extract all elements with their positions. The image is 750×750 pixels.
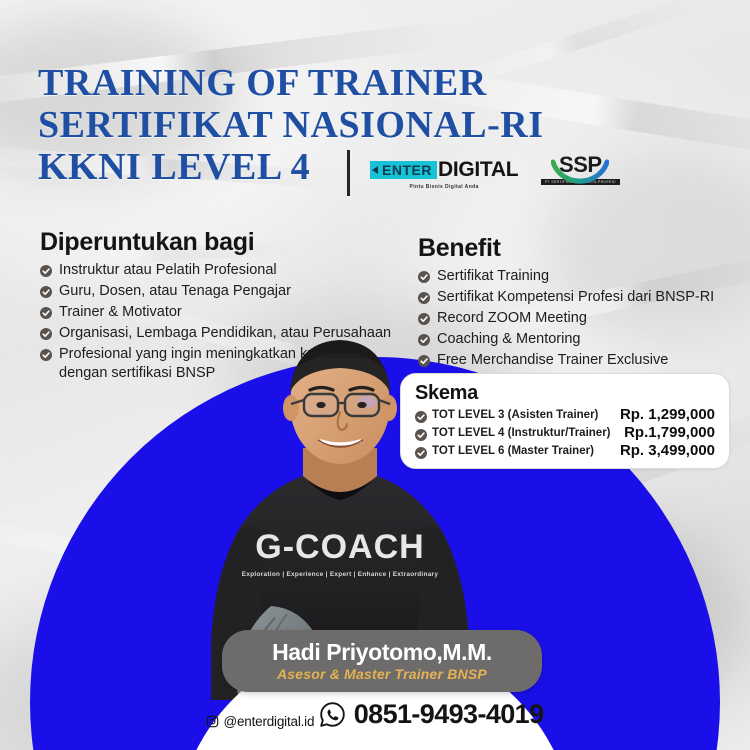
skema-title: Skema — [415, 382, 715, 405]
audience-item-text: Instruktur atau Pelatih Profesional — [59, 261, 277, 280]
list-item: Record ZOOM Meeting — [418, 309, 738, 328]
skema-pricing-box: Skema TOT LEVEL 3 (Asisten Trainer) Rp. … — [400, 373, 730, 469]
list-item: Guru, Dosen, atau Tenaga Pengajar — [40, 282, 400, 301]
list-item: Trainer & Motivator — [40, 303, 400, 322]
list-item: Profesional yang ingin meningkatkan kred… — [40, 345, 400, 383]
skema-level-label: TOT LEVEL 6 (Master Trainer) — [432, 445, 594, 457]
table-row: TOT LEVEL 6 (Master Trainer) Rp. 3,499,0… — [415, 442, 715, 459]
check-circle-icon — [415, 411, 427, 423]
check-circle-icon — [418, 334, 430, 346]
audience-title: Diperuntukan bagi — [40, 228, 400, 257]
check-circle-icon — [40, 265, 52, 277]
headline-line-1: TRAINING OF TRAINER — [38, 62, 544, 104]
audience-item-text: Guru, Dosen, atau Tenaga Pengajar — [59, 282, 291, 301]
skema-level-label: TOT LEVEL 4 (Instruktur/Trainer) — [432, 427, 611, 439]
instagram-icon[interactable] — [206, 715, 219, 728]
enter-digital-tagline: Pintu Bisnis Digital Anda — [410, 184, 479, 190]
list-item: Coaching & Mentoring — [418, 330, 738, 349]
benefit-item-text: Coaching & Mentoring — [437, 330, 580, 349]
check-circle-icon — [40, 328, 52, 340]
check-circle-icon — [418, 292, 430, 304]
table-row: TOT LEVEL 3 (Asisten Trainer) Rp. 1,299,… — [415, 406, 715, 423]
headline-divider — [347, 150, 350, 196]
instagram-handle[interactable]: @enterdigital.id — [223, 714, 314, 729]
benefit-title: Benefit — [418, 234, 738, 263]
speaker-name: Hadi Priyotomo,M.M. — [272, 640, 492, 665]
list-item: Sertifikat Kompetensi Profesi dari BNSP-… — [418, 288, 738, 307]
audience-list: Instruktur atau Pelatih Profesional Guru… — [40, 261, 400, 383]
skema-level-label: TOT LEVEL 3 (Asisten Trainer) — [432, 409, 598, 421]
skema-price: Rp. 3,499,000 — [620, 442, 715, 459]
svg-text:G-COACH: G-COACH — [255, 528, 424, 566]
ssp-logo: SSP PT SERTIFIKASI SEMESTA PROFESI — [548, 152, 612, 196]
list-item: Sertifikat Training — [418, 267, 738, 286]
benefit-list: Sertifikat Training Sertifikat Kompetens… — [418, 267, 738, 370]
check-circle-icon — [418, 313, 430, 325]
benefit-item-text: Record ZOOM Meeting — [437, 309, 587, 328]
list-item: Instruktur atau Pelatih Profesional — [40, 261, 400, 280]
speaker-role: Asesor & Master Trainer BNSP — [277, 666, 487, 682]
check-circle-icon — [40, 349, 52, 361]
svg-text:Exploration | Experience | Exp: Exploration | Experience | Expert | Enha… — [242, 571, 439, 578]
skema-price: Rp. 1,299,000 — [620, 406, 715, 423]
ssp-arc-icon — [551, 156, 609, 190]
whatsapp-contact[interactable]: 0851-9493-4019 — [319, 699, 544, 730]
benefit-item-text: Free Merchandise Trainer Exclusive — [437, 351, 668, 370]
instagram-contact[interactable]: @enterdigital.id — [206, 714, 314, 729]
audience-item-text: Trainer & Motivator — [59, 303, 182, 322]
whatsapp-number[interactable]: 0851-9493-4019 — [354, 699, 544, 730]
benefit-item-text: Sertifikat Training — [437, 267, 549, 286]
check-circle-icon — [418, 355, 430, 367]
check-circle-icon — [415, 447, 427, 459]
benefit-section: Benefit Sertifikat Training Sertifikat K… — [418, 234, 738, 372]
enter-digital-word: DIGITAL — [438, 158, 518, 182]
audience-item-text: Profesional yang ingin meningkatkan kred… — [59, 345, 400, 383]
skema-price: Rp.1,799,000 — [624, 424, 715, 441]
check-circle-icon — [415, 429, 427, 441]
check-circle-icon — [40, 286, 52, 298]
check-circle-icon — [40, 307, 52, 319]
logo-row: ENTER DIGITAL Pintu Bisnis Digital Anda … — [370, 152, 612, 196]
speaker-name-banner: Hadi Priyotomo,M.M. Asesor & Master Trai… — [222, 630, 542, 692]
poster-canvas: G-COACH Exploration | Experience | Exper… — [0, 0, 750, 750]
audience-item-text: Organisasi, Lembaga Pendidikan, atau Per… — [59, 324, 391, 343]
enter-digital-logo: ENTER DIGITAL Pintu Bisnis Digital Anda — [370, 158, 518, 190]
list-item: Free Merchandise Trainer Exclusive — [418, 351, 738, 370]
contact-footer: @enterdigital.id 0851-9493-4019 — [0, 698, 750, 733]
whatsapp-icon[interactable] — [319, 701, 346, 728]
headline-line-2: SERTIFIKAT NASIONAL-RI — [38, 104, 544, 146]
audience-section: Diperuntukan bagi Instruktur atau Pelati… — [40, 228, 400, 385]
benefit-item-text: Sertifikat Kompetensi Profesi dari BNSP-… — [437, 288, 714, 307]
table-row: TOT LEVEL 4 (Instruktur/Trainer) Rp.1,79… — [415, 424, 715, 441]
enter-badge-text: ENTER — [370, 161, 437, 179]
list-item: Organisasi, Lembaga Pendidikan, atau Per… — [40, 324, 400, 343]
check-circle-icon — [418, 271, 430, 283]
